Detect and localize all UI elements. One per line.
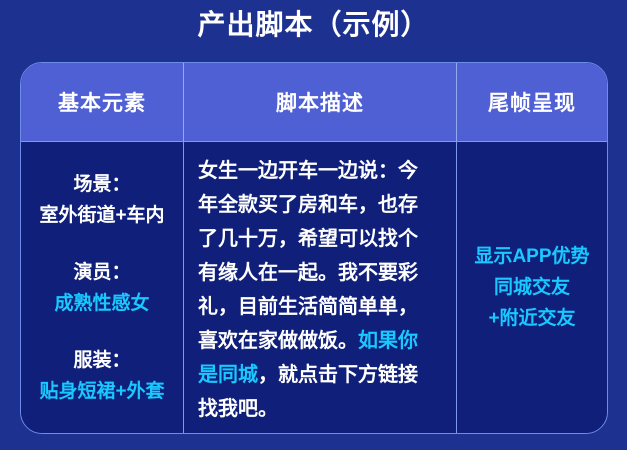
script-line: 喜欢在家做做饭。如果你 [198,324,418,358]
script-line: 找我吧。 [198,392,418,426]
script-line: 是同城，就点击下方链接 [198,358,418,392]
column-header-label: 基本元素 [58,87,146,117]
script-line-plain: 了几十万，希望可以找个 [198,228,418,250]
script-line: 礼，目前生活简简单单， [198,290,418,324]
cell-script-description: 女生一边开车一边说：今 年全款买了房和车，也存 了几十万，希望可以找个 有缘人在… [183,142,456,433]
script-line-highlight: 如果你 [358,330,418,352]
script-line-plain: 礼，目前生活简简单单， [198,296,418,318]
element-value-actor: 成熟性感女 [54,288,149,319]
cell-basic-elements: 场景： 室外街道+车内 演员： 成熟性感女 服装： 贴身短裙+外套 [21,142,183,433]
element-value-scene: 室外街道+车内 [39,200,164,231]
end-frame-line-2: 同城交友 [494,272,570,303]
end-frame-line-3: +附近交友 [488,303,575,334]
script-paragraph: 女生一边开车一边说：今 年全款买了房和车，也存 了几十万，希望可以找个 有缘人在… [198,154,418,426]
end-frame-line-1: 显示APP优势 [474,241,589,272]
page-title: 产出脚本（示例） [0,6,627,44]
cell-end-frame: 显示APP优势 同城交友 +附近交友 [456,142,607,433]
script-line-plain: 女生一边开车一边说：今 [198,160,418,182]
script-line: 女生一边开车一边说：今 [198,154,418,188]
script-line-plain: ，就点击下方链接 [258,364,418,386]
script-line-plain: 有缘人在一起。我不要彩 [198,262,418,284]
column-header-label: 脚本描述 [276,87,364,117]
table-header-row: 基本元素 脚本描述 尾帧呈现 [21,63,607,141]
script-line: 有缘人在一起。我不要彩 [198,256,418,290]
element-label-scene: 场景： [39,169,164,200]
element-value-costume: 贴身短裙+外套 [39,376,164,407]
script-table: 基本元素 脚本描述 尾帧呈现 场景： 室外街道+车内 演员： 成熟性感女 服装：… [20,62,608,434]
element-group-actor: 演员： 成熟性感女 [54,257,149,319]
script-line: 了几十万，希望可以找个 [198,222,418,256]
column-header-label: 尾帧呈现 [488,87,576,117]
element-group-scene: 场景： 室外街道+车内 [39,169,164,231]
script-line-plain: 喜欢在家做做饭。 [198,330,358,352]
element-label-costume: 服装： [39,345,164,376]
script-line-highlight: 是同城 [198,364,258,386]
table-body-row: 场景： 室外街道+车内 演员： 成熟性感女 服装： 贴身短裙+外套 女生一边开车… [21,141,607,433]
script-line-plain: 年全款买了房和车，也存 [198,194,418,216]
column-header-script-description: 脚本描述 [183,63,456,141]
column-header-basic-elements: 基本元素 [21,63,183,141]
column-header-end-frame: 尾帧呈现 [456,63,607,141]
element-group-costume: 服装： 贴身短裙+外套 [39,345,164,407]
script-line-plain: 找我吧。 [198,398,278,420]
script-line: 年全款买了房和车，也存 [198,188,418,222]
element-label-actor: 演员： [54,257,149,288]
